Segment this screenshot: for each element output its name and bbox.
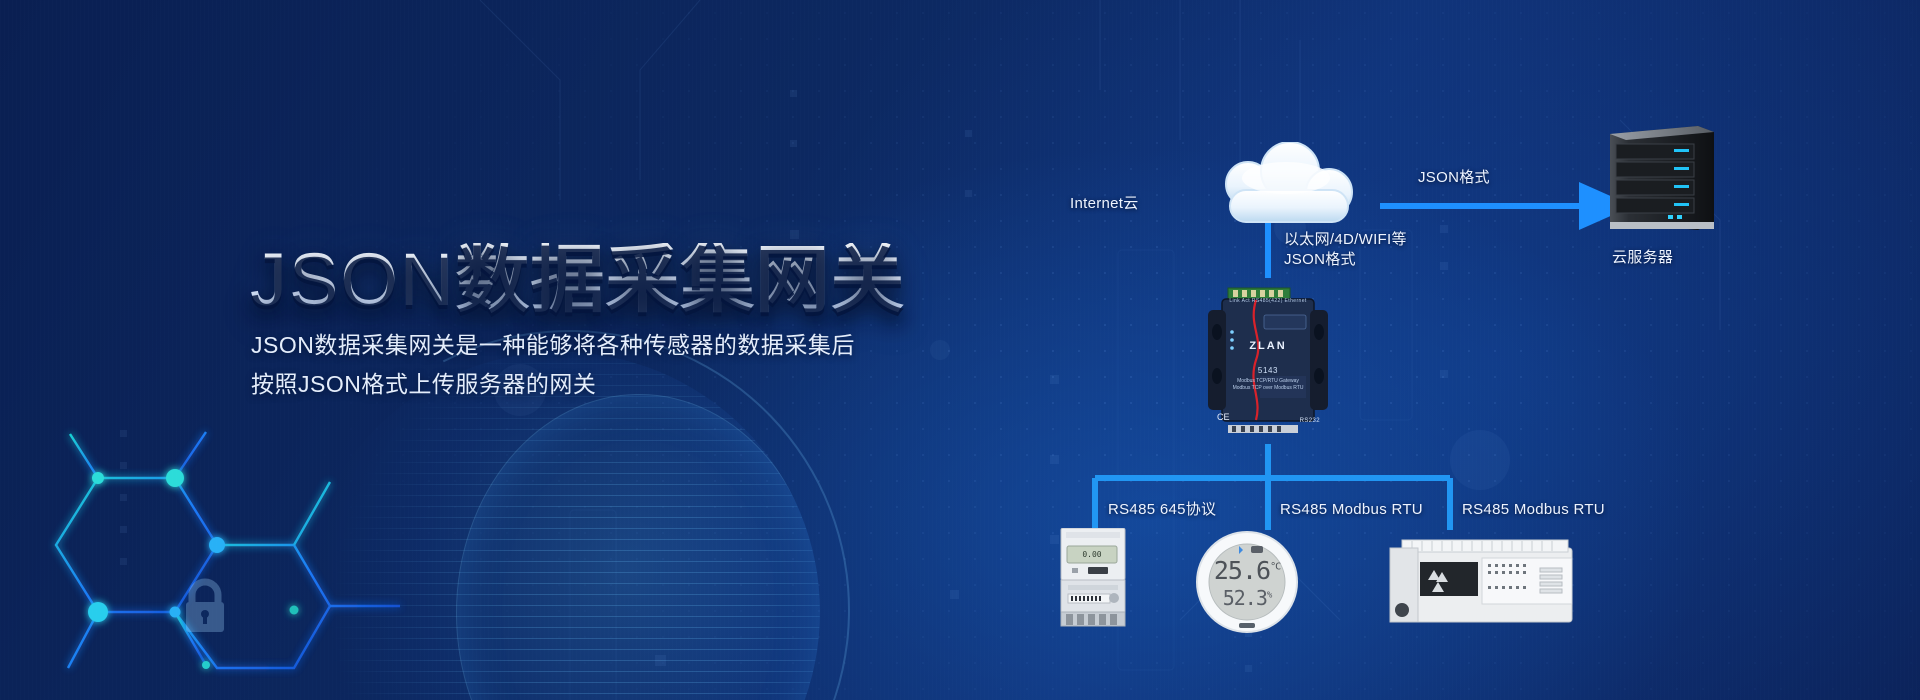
page-description-line-1: JSON数据采集网关是一种能够将各种传感器的数据采集后 (251, 326, 891, 365)
sensor-temperature-reading: 25.6°C (1195, 556, 1299, 585)
server-rack-icon (1602, 118, 1722, 238)
page-title-cjk: 数据采集网关 (455, 238, 905, 321)
electric-meter-icon: 0.00 (1058, 528, 1128, 628)
lock-icon (178, 576, 232, 638)
gateway-sub-labels: Modbus TCP/RTU Gateway Modbus TCP over M… (1208, 378, 1328, 392)
branch-label-1: RS485 Modbus RTU (1280, 500, 1423, 520)
cloud-icon (1194, 142, 1374, 234)
gateway-port-label: RS232 (1300, 418, 1320, 424)
gateway-model: 5143 (1208, 366, 1328, 375)
gateway-uplink-label: 以太网/4D/WIFI等 JSON格式 (1284, 230, 1407, 270)
topology-diagram: Internet云 (1040, 110, 1900, 670)
branch-label-2: RS485 Modbus RTU (1462, 500, 1605, 520)
gateway-sub-line-1: Modbus TCP/RTU Gateway (1208, 378, 1328, 385)
sensor-temperature-value: 25.6 (1214, 556, 1270, 585)
branch-label-0: RS485 645协议 (1108, 500, 1216, 520)
page-title: JSON数据采集网关 (250, 243, 905, 317)
gateway-top-note: Link Act RS485(422) Ethernet (1208, 298, 1328, 304)
plc-icon (1388, 538, 1574, 626)
hexagon-network-graphic (0, 410, 420, 700)
sensor-humidity-unit: % (1267, 590, 1271, 600)
gateway-device: Link Act RS485(422) Ethernet ZLAN 5143 M… (1208, 280, 1328, 440)
sensor-humidity-reading: 52.3% (1195, 586, 1299, 610)
page-description-line-2: 按照JSON格式上传服务器的网关 (251, 365, 891, 404)
gateway-uplink-line-1: 以太网/4D/WIFI等 (1284, 230, 1407, 250)
banner-stage: JSON数据采集网关 JSON数据采集网关是一种能够将各种传感器的数据采集后 按… (0, 0, 1920, 700)
sensor-humidity-value: 52.3 (1223, 586, 1267, 610)
page-description: JSON数据采集网关是一种能够将各种传感器的数据采集后 按照JSON格式上传服务… (251, 326, 891, 404)
sensor-temperature-unit: °C (1270, 562, 1280, 573)
cloud-to-server-arrow-label: JSON格式 (1418, 168, 1490, 188)
electric-meter-lcd-value: 0.00 (1067, 550, 1117, 559)
gateway-brand: ZLAN (1208, 340, 1328, 352)
temp-humidity-sensor-icon: 25.6°C 52.3% (1195, 530, 1299, 634)
page-title-latin: JSON (250, 238, 455, 321)
gateway-sub-line-2: Modbus TCP over Modbus RTU (1208, 385, 1328, 392)
gateway-uplink-line-2: JSON格式 (1284, 250, 1407, 270)
gateway-ce-mark: CE (1217, 412, 1230, 422)
cloud-label: Internet云 (1070, 194, 1139, 214)
server-label: 云服务器 (1612, 248, 1673, 268)
